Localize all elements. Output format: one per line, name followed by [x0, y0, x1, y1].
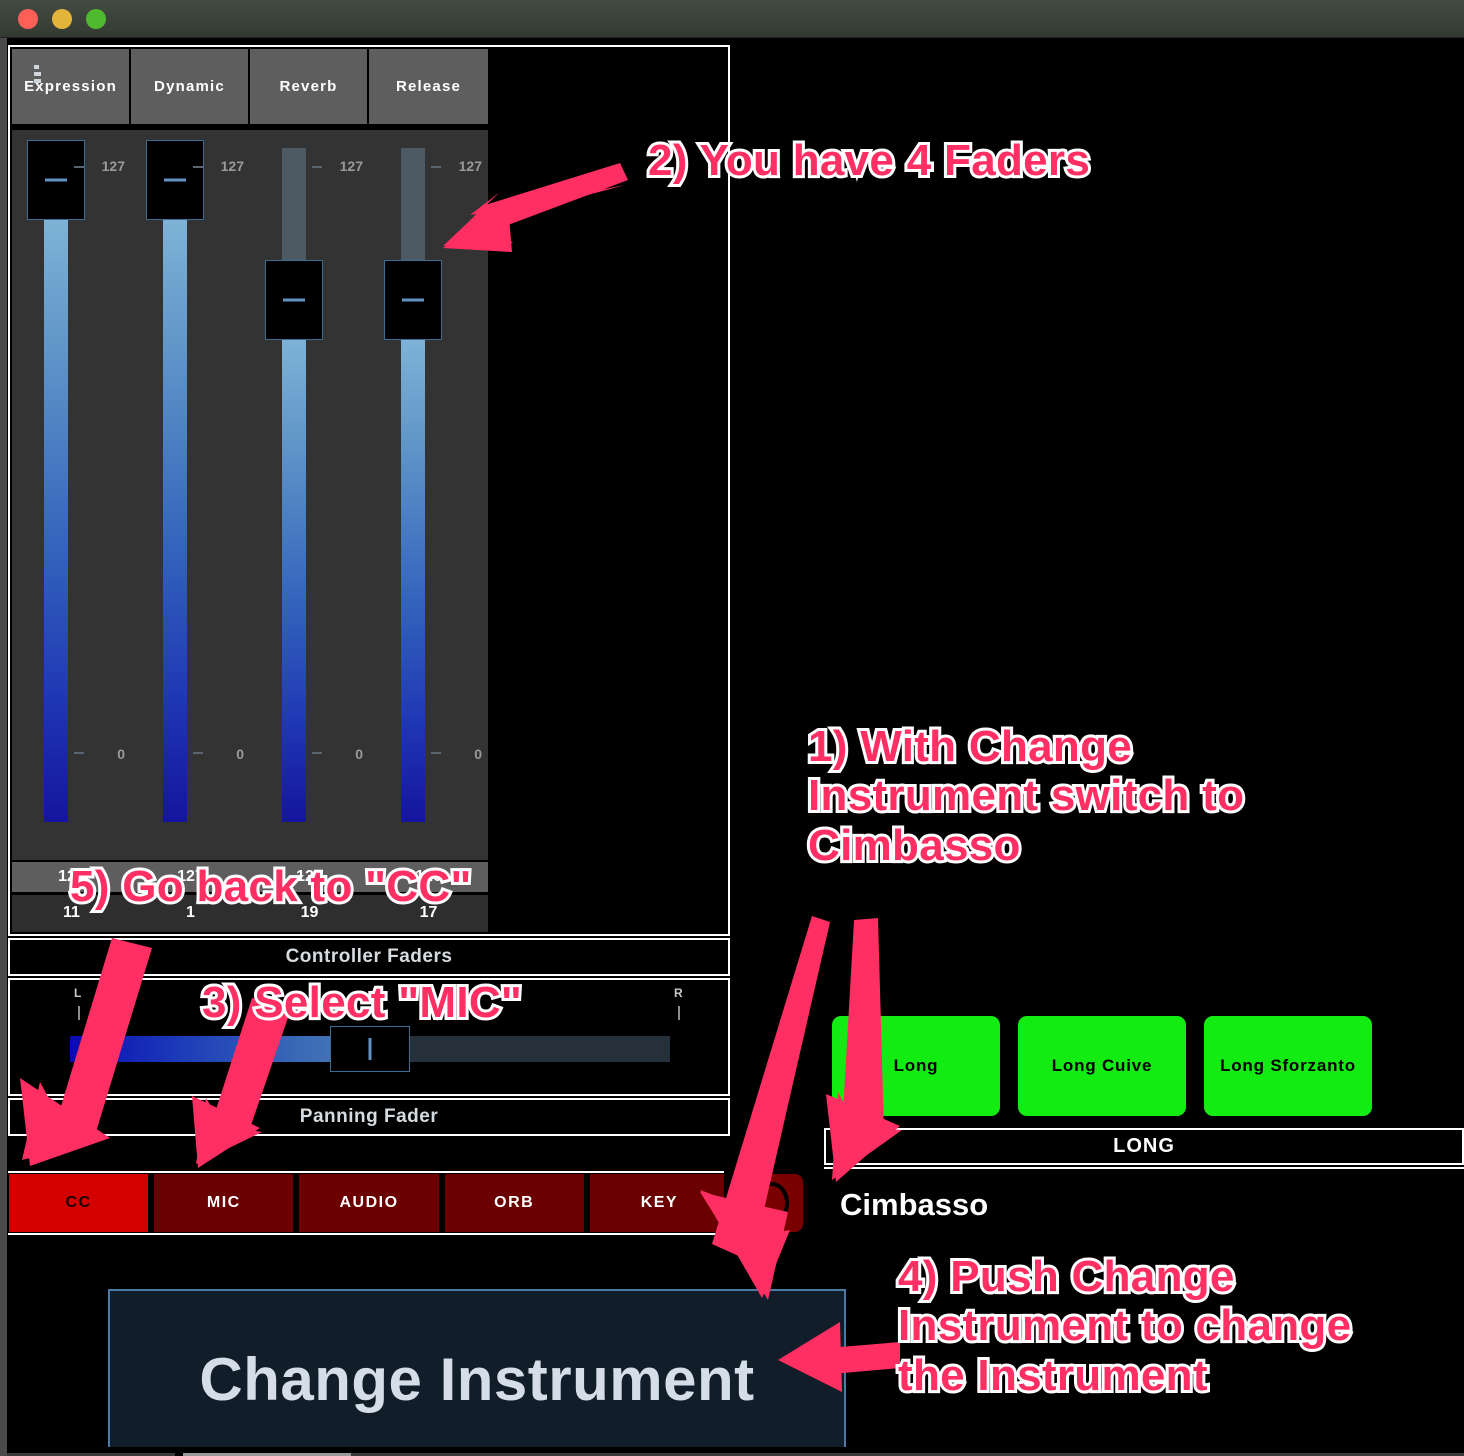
- pan-fill: [70, 1036, 370, 1062]
- fader-max-tick: [193, 166, 203, 168]
- panning-fader-caption: Panning Fader: [8, 1098, 730, 1136]
- pan-handle[interactable]: [330, 1026, 410, 1072]
- app-body: Expression127012711Dynamic12701271Reverb…: [0, 38, 1464, 1456]
- fader-min-tick: [312, 752, 322, 754]
- fader-max-label: 127: [221, 158, 244, 174]
- articulation-button-row: LongLong CuiveLong Sforzanto: [832, 1016, 1372, 1116]
- pan-tick-right: [678, 1006, 680, 1020]
- fader-fill: [163, 220, 187, 822]
- fader-handle[interactable]: [265, 260, 323, 340]
- fader-track-area[interactable]: 127012017: [369, 130, 488, 932]
- fader-label: Reverb: [279, 78, 337, 95]
- fader-handle[interactable]: [27, 140, 85, 220]
- knob-cell[interactable]: [724, 1171, 820, 1235]
- tab-mic[interactable]: MIC: [153, 1173, 294, 1233]
- articulation-button[interactable]: Long Sforzanto: [1204, 1016, 1372, 1116]
- fader-track-area[interactable]: 127012711: [12, 130, 131, 932]
- tab-key[interactable]: KEY: [589, 1173, 730, 1233]
- fader-column: Expression127012711: [12, 49, 131, 932]
- fader-max-tick: [74, 166, 84, 168]
- fader-min-label: 0: [474, 746, 482, 762]
- fader-max-tick: [431, 166, 441, 168]
- fader-header[interactable]: Expression: [12, 49, 129, 127]
- instrument-name: Cimbasso: [840, 1183, 1400, 1227]
- fader-max-label: 127: [459, 158, 482, 174]
- power-knob-icon[interactable]: [741, 1174, 803, 1232]
- fader-min-label: 0: [355, 746, 363, 762]
- left-gutter: [0, 38, 7, 1456]
- app-window: Expression127012711Dynamic12701271Reverb…: [0, 0, 1464, 1456]
- instrument-name-label: Cimbasso: [840, 1187, 988, 1223]
- pan-right-label: R: [674, 986, 683, 1000]
- controller-faders-caption-label: Controller Faders: [286, 946, 453, 968]
- pan-tick-left: [78, 1006, 80, 1020]
- annotation-step5: 5) Go back to "CC": [70, 862, 472, 911]
- fader-track-area[interactable]: 12701271: [131, 130, 250, 932]
- fader-handle[interactable]: [146, 140, 204, 220]
- drag-grip-icon[interactable]: [34, 65, 41, 83]
- tab-cc[interactable]: CC: [8, 1173, 149, 1233]
- fader-column: Release127012017: [369, 49, 488, 932]
- fader-column: Reverb127012019: [250, 49, 369, 932]
- articulation-group-label: LONG: [1113, 1135, 1175, 1158]
- articulation-button[interactable]: Long: [832, 1016, 1000, 1116]
- fader-label: Dynamic: [154, 78, 225, 95]
- pan-left-label: L: [74, 986, 81, 1000]
- change-instrument-label: Change Instrument: [199, 1345, 754, 1414]
- zoom-button-icon[interactable]: [86, 9, 106, 29]
- fader-header[interactable]: Dynamic: [131, 49, 248, 127]
- controller-faders-caption: Controller Faders: [8, 938, 730, 976]
- fader-header[interactable]: Release: [369, 49, 488, 127]
- articulation-group-caption: LONG: [824, 1128, 1464, 1165]
- fader-fill: [282, 340, 306, 822]
- articulation-button[interactable]: Long Cuive: [1018, 1016, 1186, 1116]
- fader-max-label: 127: [102, 158, 125, 174]
- fader-column: Dynamic12701271: [131, 49, 250, 932]
- annotation-step1: 1) With Change Instrument switch to Cimb…: [808, 722, 1244, 870]
- tab-audio[interactable]: AUDIO: [298, 1173, 439, 1233]
- fader-fill: [44, 220, 68, 822]
- panning-fader-caption-label: Panning Fader: [300, 1106, 438, 1128]
- annotation-step2: 2) You have 4 Faders: [648, 136, 1090, 185]
- controller-fader-panel: Expression127012711Dynamic12701271Reverb…: [8, 45, 730, 936]
- fader-min-tick: [193, 752, 203, 754]
- fader-columns: Expression127012711Dynamic12701271Reverb…: [12, 49, 490, 932]
- fader-max-tick: [312, 166, 322, 168]
- tab-orb[interactable]: ORB: [444, 1173, 585, 1233]
- close-button-icon[interactable]: [18, 9, 38, 29]
- fader-label: Release: [396, 78, 461, 95]
- fader-track-area[interactable]: 127012019: [250, 130, 369, 932]
- window-titlebar: [0, 0, 1464, 38]
- fader-min-tick: [74, 752, 84, 754]
- fader-max-label: 127: [340, 158, 363, 174]
- fader-min-tick: [431, 752, 441, 754]
- right-divider: [824, 1167, 1464, 1169]
- fader-header[interactable]: Reverb: [250, 49, 367, 127]
- fader-handle[interactable]: [384, 260, 442, 340]
- annotation-step4: 4) Push Change Instrument to change the …: [898, 1252, 1351, 1400]
- fader-fill: [401, 340, 425, 822]
- bottom-keyboard-strip: [7, 1447, 1464, 1456]
- window-controls: [18, 9, 106, 29]
- controller-tab-row: CCMICAUDIOORBKEY: [8, 1171, 730, 1235]
- fader-min-label: 0: [236, 746, 244, 762]
- change-instrument-button[interactable]: Change Instrument: [108, 1289, 846, 1456]
- fader-min-label: 0: [117, 746, 125, 762]
- annotation-step3: 3) Select "MIC": [202, 978, 522, 1027]
- minimize-button-icon[interactable]: [52, 9, 72, 29]
